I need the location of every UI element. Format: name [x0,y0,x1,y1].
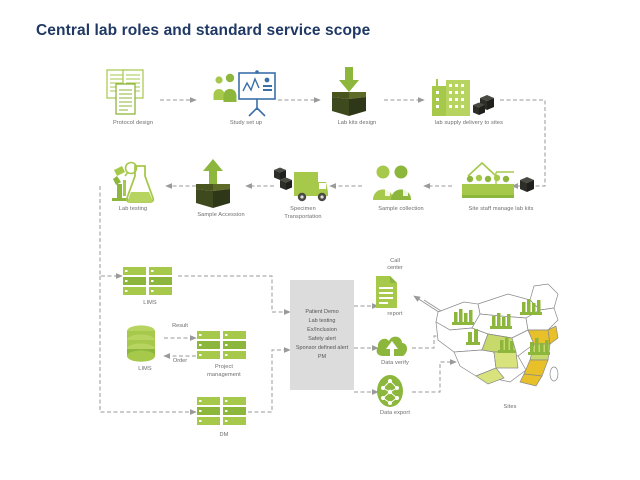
node-data-export[interactable]: Data export [374,374,416,418]
presentation-people-icon [206,70,286,118]
node-lab-testing[interactable]: Lab testing [104,160,162,214]
node-label: DM [196,432,252,440]
edge-label-result: Result [158,323,202,329]
node-project-management[interactable]: Project management [196,330,252,379]
microscope-flask-icon [104,160,162,204]
node-label: Site staff manage lab kits [452,206,550,214]
truck-icon [272,162,334,204]
node-lims-top[interactable]: LIMS [122,266,178,308]
node-protocol-design[interactable]: Protocol design [104,68,162,128]
node-lab-supply-delivery[interactable]: lab supply delivery to sites [424,74,514,128]
node-label: Lab testing [104,206,162,214]
document-report-icon [372,275,418,309]
scope-box: Patient Demo Lab testing Ex/Inclusion Sa… [290,280,354,390]
node-sample-collection[interactable]: Sample collection [366,164,436,214]
node-label: LIMS [122,366,168,374]
node-dm[interactable]: DM [196,396,252,440]
documents-icon [104,68,162,118]
box-up-arrow-icon [190,158,252,210]
node-label: Data verify [374,360,416,368]
china-map-icon [430,282,590,400]
node-site-staff-manage-kits[interactable]: Site staff manage lab kits [452,160,550,214]
node-lab-kits-design[interactable]: Lab kits design [326,66,388,128]
node-label: report [372,311,418,319]
node-data-verify[interactable]: Data verify [374,332,416,368]
map-label: Sites [430,404,590,412]
node-label: Sample Accession [190,212,252,220]
cloud-upload-icon [374,332,416,358]
node-sites-map[interactable]: Sites [430,282,590,412]
node-study-set-up[interactable]: Study set up [206,70,286,128]
site-staff-icon [452,160,550,204]
node-label: LIMS [122,300,178,308]
node-label: Protocol design [104,120,162,128]
server-rack-icon [122,266,178,298]
box-down-arrow-icon [326,66,388,118]
node-label: lab supply delivery to sites [424,120,514,128]
node-sample-accession[interactable]: Sample Accession [190,158,252,220]
node-label: Study set up [206,120,286,128]
call-center-label: Call center [372,258,418,273]
node-label: Sample collection [366,206,436,214]
node-specimen-transportation[interactable]: Specimen Transportation [272,162,334,221]
buildings-boxes-icon [424,74,514,118]
node-lims-database[interactable]: LIMS [122,324,168,374]
server-rack-icon [196,330,252,362]
node-label: Specimen Transportation [272,206,334,221]
diagram-canvas: Central lab roles and standard service s… [0,0,640,480]
two-people-icon [366,164,436,204]
node-label: Project management [196,364,252,379]
node-label: Lab kits design [326,120,388,128]
globe-network-icon [374,374,416,408]
server-rack-icon [196,396,252,428]
node-report[interactable]: Call center report [372,258,418,318]
scope-box-text: Patient Demo Lab testing Ex/Inclusion Sa… [296,308,348,362]
node-label: Data export [374,410,416,418]
